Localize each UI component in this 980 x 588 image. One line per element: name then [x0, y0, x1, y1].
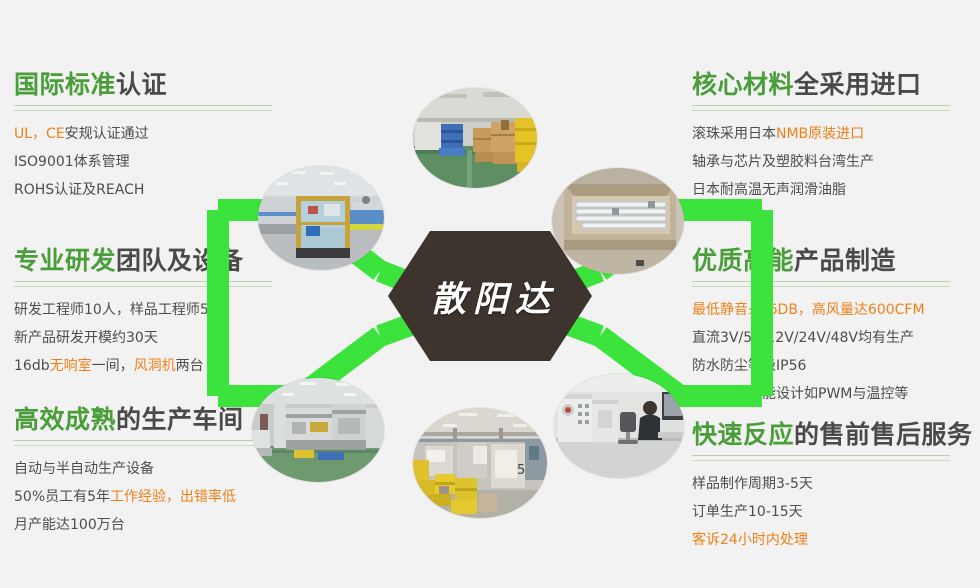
line-text: 一间，: [92, 358, 134, 374]
line-highlight-2: 风洞机: [134, 358, 176, 374]
line-text: 自动与半自动生产设备: [14, 461, 154, 477]
photo-packed-products: [552, 168, 684, 274]
line-highlight: NMB原装进口: [776, 126, 864, 142]
photo-warehouse: [413, 88, 537, 188]
svg-text:5: 5: [517, 463, 525, 478]
title-plain-part: 全采用进口: [794, 70, 922, 99]
line-text: 16db: [14, 358, 50, 374]
title-plain-part: 的售前售后服务: [794, 420, 973, 449]
title-accent-part: 专业研发: [14, 246, 116, 275]
line-text: ISO9001体系管理: [14, 154, 130, 170]
photo-inspection-line: [258, 166, 384, 270]
line-text: 新产品研发开模约30天: [14, 330, 158, 346]
hexagon-diagram: 散阳达: [200, 56, 780, 536]
line-text: 安规认证通过: [65, 126, 149, 142]
brand-logo-hexagon: 散阳达: [393, 231, 588, 361]
title-plain-part: 认证: [116, 70, 167, 99]
title-accent-part: 国际标准: [14, 70, 116, 99]
photo-assembly-floor: [252, 378, 384, 482]
infographic-canvas: 国际标准认证 UL，CE安规认证通过 ISO9001体系管理 ROHS认证及RE…: [0, 0, 980, 588]
title-plain-part: 产品制造: [794, 246, 896, 275]
title-accent-part: 高效成熟: [14, 405, 116, 434]
line-text: ROHS认证及REACH: [14, 182, 144, 198]
line-highlight: UL，CE: [14, 126, 65, 142]
line-text: 月产能达100万台: [14, 517, 125, 533]
line-text: 研发工程师10人，样品工程师5人: [14, 302, 223, 318]
line-text: 50%员工有5年: [14, 489, 110, 505]
photo-testing-room: [554, 374, 684, 478]
line-highlight: 无响室: [50, 358, 92, 374]
photo-molding-floor: 5: [413, 408, 547, 518]
brand-logo-text: 散阳达: [393, 231, 588, 361]
